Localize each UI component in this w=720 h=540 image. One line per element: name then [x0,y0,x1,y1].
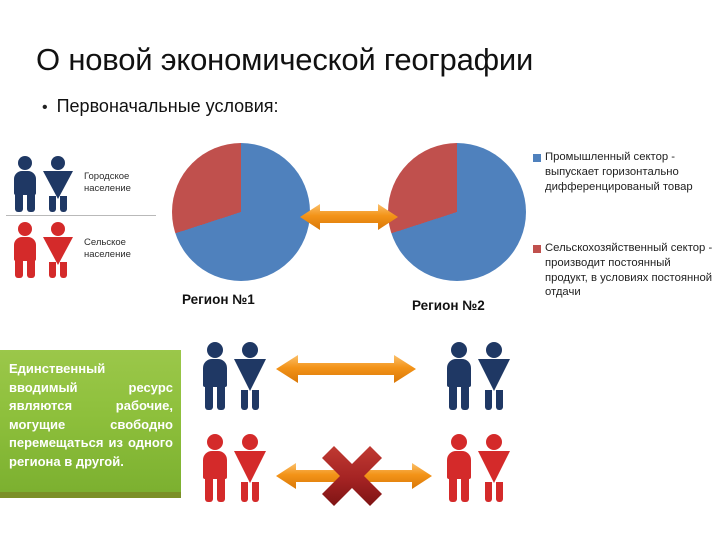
bullet-label: Первоначальные условия: [57,96,279,117]
rural-population-label: Сельское население [80,237,131,261]
legend-label-agricultural: Сельскохозяйственный сектор - производит… [545,241,715,301]
population-key-row-rural: Сельское население [6,218,168,280]
slide-canvas: О новой экономической географии • Первон… [0,0,720,540]
bullet-marker: • [42,100,48,116]
pie-chart-region-2 [388,143,526,281]
urban-couple-icon-right [444,340,510,410]
callout-text: Единственный вводимый ресурс являются ра… [9,360,173,471]
region-2-label: Регион №2 [412,298,485,313]
legend-item-agricultural: Сельскохозяйственный сектор - производит… [533,241,715,301]
population-key-divider [6,215,156,216]
pie-chart-region-1 [172,143,310,281]
region-1-label: Регион №1 [182,292,255,307]
rural-population-icon [6,220,80,278]
urban-population-label: Городское население [80,171,131,195]
legend-swatch-industrial-icon [533,154,541,162]
bullet-item: • Первоначальные условия: [42,96,602,117]
legend-item-industrial: Промышленный сектор - выпускает горизонт… [533,150,715,195]
x-cross-icon [322,446,382,511]
rural-couple-icon-left [200,432,266,502]
urban-mobility-arrow-icon [276,352,416,391]
urban-couple-icon-left [200,340,266,410]
legend-label-industrial: Промышленный сектор - выпускает горизонт… [545,150,715,195]
urban-population-icon [6,154,80,212]
rural-couple-icon-right [444,432,510,502]
legend-swatch-agricultural-icon [533,245,541,253]
population-key-row-urban: Городское население [6,152,168,214]
page-title: О новой экономической географии [36,42,696,78]
trade-double-arrow-icon [300,200,398,239]
callout-box: Единственный вводимый ресурс являются ра… [0,350,181,498]
chart-legend: Промышленный сектор - выпускает горизонт… [533,150,715,334]
population-key: Городское население [6,152,168,280]
